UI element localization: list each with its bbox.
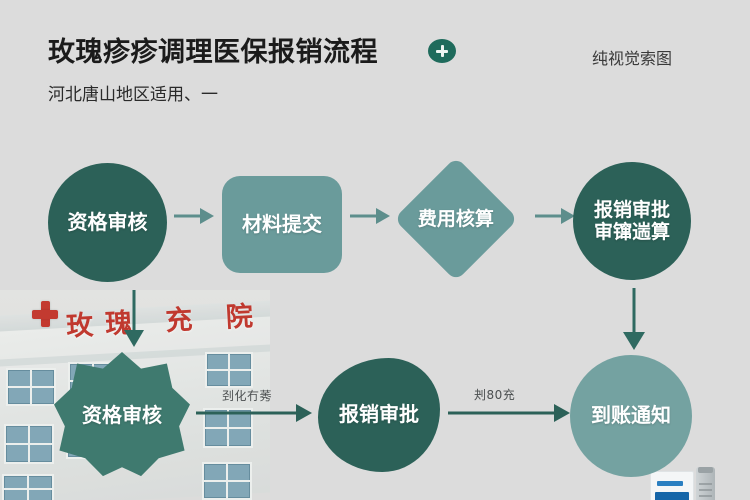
- arrow-4: [196, 403, 316, 423]
- product-package-photo: [650, 465, 720, 500]
- node-eligibility-check[interactable]: 资格审核: [48, 163, 167, 282]
- building-window: [6, 368, 56, 406]
- node-cost-accounting[interactable]: 费用核算: [394, 157, 518, 281]
- arrow-2: [350, 206, 392, 226]
- arrow-down: [622, 288, 646, 354]
- node-label-line2: 审镩遄算: [594, 221, 670, 243]
- node-material-submit[interactable]: 材料提交: [222, 176, 342, 273]
- building-window: [202, 462, 252, 500]
- node-label: 资格审核: [68, 211, 148, 235]
- building-window: [205, 352, 253, 388]
- arrow-5: [448, 403, 574, 423]
- node-reimburse-approval[interactable]: 报销审批: [318, 358, 440, 472]
- product-box: [650, 471, 694, 500]
- page-subtitle: 河北唐山地区适用、一: [48, 80, 218, 105]
- building-window: [2, 474, 54, 500]
- tube-line: [699, 495, 712, 497]
- product-label-top: [657, 481, 683, 486]
- edge-label-1: 刭化冇莠: [222, 387, 272, 404]
- tube-line: [699, 489, 712, 491]
- corner-note: 纯视觉索图: [592, 45, 672, 69]
- arrow-3: [535, 206, 577, 226]
- arrow-1: [174, 206, 216, 226]
- node-label: 材料提交: [242, 213, 322, 237]
- building-window: [4, 424, 54, 464]
- arrow-down-left: [123, 290, 145, 352]
- node-arrival-notice[interactable]: 到账通知: [570, 355, 692, 477]
- node-label: 费用核算: [418, 208, 494, 230]
- infographic-canvas: 玫瑰 充 院 玫瑰疹疹调理医保报销流程 河北唐山地区适用、一 纯视觉索图 资格审…: [0, 0, 750, 500]
- tube-cap: [698, 467, 713, 473]
- product-label-bottom: [655, 492, 689, 500]
- node-label: 资格审核: [82, 404, 162, 428]
- red-cross-icon: [32, 301, 58, 327]
- node-reimburse-approval-top[interactable]: 报销审批 审镩遄算: [573, 162, 691, 280]
- medical-cross-icon: [428, 39, 456, 63]
- tube-line: [699, 483, 712, 485]
- node-label: 报销审批: [339, 403, 419, 427]
- edge-label-2: 刔80充: [474, 386, 515, 403]
- node-label-line1: 报销审批: [594, 199, 670, 221]
- node-label: 到账通知: [591, 404, 671, 428]
- product-tube: [696, 467, 715, 500]
- page-title: 玫瑰疹疹调理医保报销流程: [48, 30, 378, 69]
